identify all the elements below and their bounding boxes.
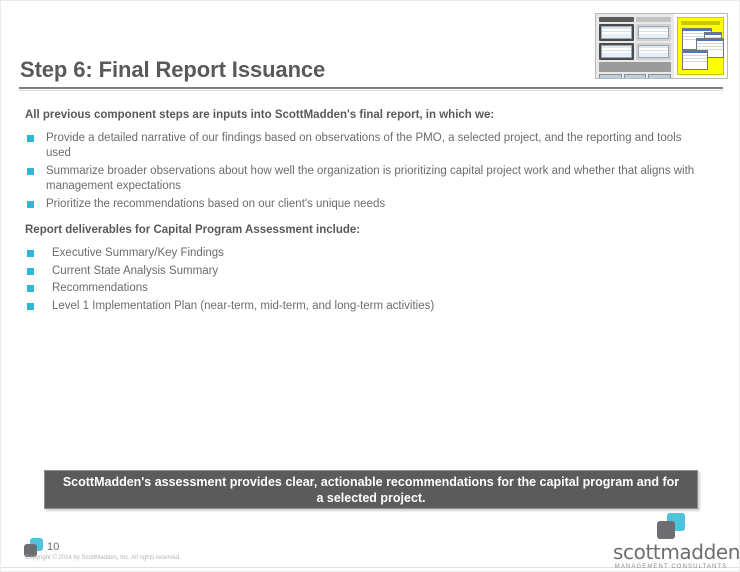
list-item: Recommendations [27, 281, 587, 296]
section-two-lead: Report deliverables for Capital Program … [25, 224, 360, 236]
square-bullet-icon [27, 135, 34, 142]
copyright-notice: Copyright © 2014 by ScottMadden, Inc. Al… [25, 555, 181, 561]
title-divider [19, 87, 723, 89]
square-bullet-icon [27, 285, 34, 292]
key-message-text: ScottMadden's assessment provides clear,… [45, 474, 697, 506]
thumbnail-mini-slide [601, 26, 632, 39]
list-item-label: Prioritize the recommendations based on … [46, 197, 385, 212]
thumbnail-summary-bar [599, 62, 671, 72]
brand-logo-icon [656, 513, 686, 539]
thumbnail-cell [599, 24, 634, 41]
page-number: 10 [47, 541, 59, 553]
list-item: Executive Summary/Key Findings [27, 246, 587, 261]
square-bullet-icon [27, 250, 34, 257]
brand-tagline: MANAGEMENT CONSULTANTS [613, 564, 729, 570]
thumbnail-highlight-panel [674, 14, 727, 78]
thumbnail-report-page [682, 50, 708, 70]
list-item-label: Level 1 Implementation Plan (near-term, … [52, 299, 434, 314]
thumbnail-cell [636, 24, 671, 41]
list-item-label: Provide a detailed narrative of our find… [46, 131, 707, 160]
list-item: Level 1 Implementation Plan (near-term, … [27, 299, 587, 314]
thumbnail-deliverable [599, 74, 622, 79]
thumbnail-diagram-row-1 [599, 24, 671, 41]
list-item-label: Executive Summary/Key Findings [52, 246, 224, 261]
list-item-label: Current State Analysis Summary [52, 264, 218, 279]
square-bullet-icon [27, 168, 34, 175]
list-item: Prioritize the recommendations based on … [27, 197, 707, 212]
slide: Step 6: Final Report Issuance All previo… [0, 0, 740, 572]
thumbnail-mini-slide [638, 45, 669, 58]
list-item: Current State Analysis Summary [27, 264, 587, 279]
thumbnail-diagram-headers [599, 17, 671, 22]
thumbnail-mini-slide [638, 26, 669, 39]
process-diagram-thumbnail [595, 13, 728, 79]
thumbnail-deliverable [624, 74, 647, 79]
page-title: Step 6: Final Report Issuance [20, 57, 325, 83]
key-message-callout: ScottMadden's assessment provides clear,… [44, 470, 698, 509]
square-bullet-icon [27, 268, 34, 275]
thumbnail-diagram-panel [596, 14, 674, 78]
brand-logo: scottmadden MANAGEMENT CONSULTANTS [613, 513, 729, 570]
list-item: Summarize broader observations about how… [27, 164, 707, 193]
list-item: Provide a detailed narrative of our find… [27, 131, 707, 160]
section-one-bullet-list: Provide a detailed narrative of our find… [27, 131, 707, 216]
thumbnail-highlight-title [681, 21, 720, 25]
thumbnail-yellow-highlight [677, 17, 724, 75]
list-item-label: Summarize broader observations about how… [46, 164, 707, 193]
thumbnail-cell [636, 43, 671, 60]
thumbnail-header-left [599, 17, 634, 22]
thumbnail-header-right [636, 17, 671, 22]
logo-square-front [657, 521, 675, 539]
thumbnail-deliverable-strip [599, 74, 671, 79]
thumbnail-deliverable [648, 74, 671, 79]
thumbnail-diagram-row-2 [599, 43, 671, 60]
thumbnail-cell [599, 43, 634, 60]
brand-name: scottmadden [613, 541, 729, 563]
thumbnail-mini-slide [601, 45, 632, 58]
section-two-bullet-list: Executive Summary/Key Findings Current S… [27, 246, 587, 316]
list-item-label: Recommendations [52, 281, 148, 296]
section-one-lead: All previous component steps are inputs … [25, 109, 494, 121]
title-divider-shadow [19, 90, 723, 91]
square-bullet-icon [27, 201, 34, 208]
square-bullet-icon [27, 303, 34, 310]
